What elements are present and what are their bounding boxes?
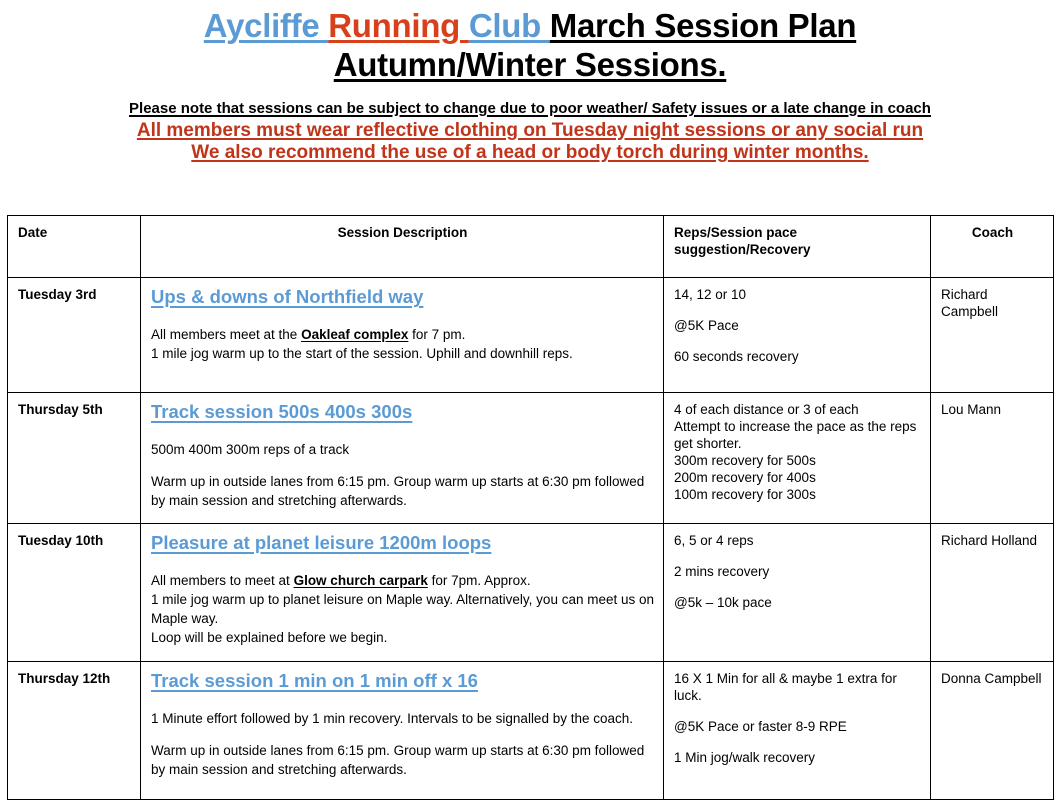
session-plan-document: Aycliffe Running Club March Session Plan… <box>0 0 1060 761</box>
table-header-row: Date Session Description Reps/Session pa… <box>8 216 1054 278</box>
cell-session-description: Track session 500s 400s 300s500m 400m 30… <box>141 393 664 524</box>
column-header-date: Date <box>8 216 141 278</box>
cell-reps-pace-recovery: 4 of each distance or 3 of eachAttempt t… <box>664 393 931 524</box>
column-header-coach: Coach <box>931 216 1054 278</box>
session-title-link[interactable]: Pleasure at planet leisure 1200m loops <box>151 532 491 554</box>
reps-line: @5k – 10k pace <box>674 594 921 611</box>
reps-line: 60 seconds recovery <box>674 348 921 365</box>
session-description-line: 1 mile jog warm up to the start of the s… <box>151 344 654 363</box>
session-description-line: Warm up in outside lanes from 6:15 pm. G… <box>151 472 654 510</box>
title-segment-3: March Session Plan <box>550 7 856 44</box>
table-row: Tuesday 3rdUps & downs of Northfield way… <box>8 278 1054 393</box>
title-segment-2: Club <box>469 7 550 44</box>
table-row: Thursday 5thTrack session 500s 400s 300s… <box>8 393 1054 524</box>
session-description-line: All members meet at the Oakleaf complex … <box>151 325 654 344</box>
notice-block: Please note that sessions can be subject… <box>0 98 1060 164</box>
cell-reps-pace-recovery: 6, 5 or 4 reps2 mins recovery@5k – 10k p… <box>664 524 931 662</box>
session-plan-table-wrapper: Date Session Description Reps/Session pa… <box>7 215 1053 800</box>
column-header-reps-line1: Reps/Session pace <box>674 224 921 241</box>
session-title-link[interactable]: Track session 1 min on 1 min off x 16 <box>151 670 478 692</box>
document-title: Aycliffe Running Club March Session Plan… <box>0 0 1060 84</box>
cell-date: Tuesday 3rd <box>8 278 141 393</box>
cell-coach: Richard Campbell <box>931 278 1054 393</box>
reps-line: 200m recovery for 400s <box>674 469 921 486</box>
session-description-line: 1 Minute effort followed by 1 min recove… <box>151 709 654 728</box>
cell-session-description: Pleasure at planet leisure 1200m loopsAl… <box>141 524 664 662</box>
title-segment-0: Aycliffe <box>204 7 328 44</box>
table-body: Tuesday 3rdUps & downs of Northfield way… <box>8 278 1054 800</box>
cell-date: Thursday 12th <box>8 662 141 800</box>
table-row: Tuesday 10thPleasure at planet leisure 1… <box>8 524 1054 662</box>
session-description-line: Warm up in outside lanes from 6:15 pm. G… <box>151 741 654 779</box>
column-header-reps-line2: suggestion/Recovery <box>674 241 921 258</box>
reps-line: 4 of each distance or 3 of each <box>674 401 921 418</box>
table-row: Thursday 12thTrack session 1 min on 1 mi… <box>8 662 1054 800</box>
session-title-link[interactable]: Ups & downs of Northfield way <box>151 286 423 308</box>
notice-weather: Please note that sessions can be subject… <box>0 98 1060 120</box>
reps-line: 16 X 1 Min for all & maybe 1 extra for l… <box>674 670 921 704</box>
reps-line: 100m recovery for 300s <box>674 486 921 503</box>
reps-line: @5K Pace <box>674 317 921 334</box>
session-description-line: 1 mile jog warm up to planet leisure on … <box>151 590 654 628</box>
notice-reflective-clothing: All members must wear reflective clothin… <box>0 120 1060 142</box>
cell-reps-pace-recovery: 16 X 1 Min for all & maybe 1 extra for l… <box>664 662 931 800</box>
title-line-primary: Aycliffe Running Club March Session Plan <box>0 6 1060 45</box>
cell-coach: Lou Mann <box>931 393 1054 524</box>
session-description-line: Loop will be explained before we begin. <box>151 628 654 647</box>
column-header-reps: Reps/Session pace suggestion/Recovery <box>664 216 931 278</box>
session-description-line: All members to meet at Glow church carpa… <box>151 571 654 590</box>
meeting-point: Glow church carpark <box>294 573 428 588</box>
title-segment-1: Running <box>328 7 469 44</box>
title-line-secondary: Autumn/Winter Sessions. <box>0 45 1060 84</box>
column-header-session-description: Session Description <box>141 216 664 278</box>
session-plan-table: Date Session Description Reps/Session pa… <box>7 215 1054 800</box>
cell-date: Tuesday 10th <box>8 524 141 662</box>
notice-torch: We also recommend the use of a head or b… <box>0 142 1060 164</box>
meeting-point: Oakleaf complex <box>301 327 408 342</box>
cell-session-description: Ups & downs of Northfield wayAll members… <box>141 278 664 393</box>
cell-reps-pace-recovery: 14, 12 or 10@5K Pace60 seconds recovery <box>664 278 931 393</box>
reps-line: 14, 12 or 10 <box>674 286 921 303</box>
session-title-link[interactable]: Track session 500s 400s 300s <box>151 401 412 423</box>
cell-session-description: Track session 1 min on 1 min off x 161 M… <box>141 662 664 800</box>
cell-coach: Richard Holland <box>931 524 1054 662</box>
reps-line: 2 mins recovery <box>674 563 921 580</box>
reps-line: Attempt to increase the pace as the reps… <box>674 418 921 452</box>
session-description-line: 500m 400m 300m reps of a track <box>151 440 654 459</box>
reps-line: 6, 5 or 4 reps <box>674 532 921 549</box>
reps-line: 1 Min jog/walk recovery <box>674 749 921 766</box>
reps-line: @5K Pace or faster 8-9 RPE <box>674 718 921 735</box>
reps-line: 300m recovery for 500s <box>674 452 921 469</box>
cell-coach: Donna Campbell <box>931 662 1054 800</box>
cell-date: Thursday 5th <box>8 393 141 524</box>
